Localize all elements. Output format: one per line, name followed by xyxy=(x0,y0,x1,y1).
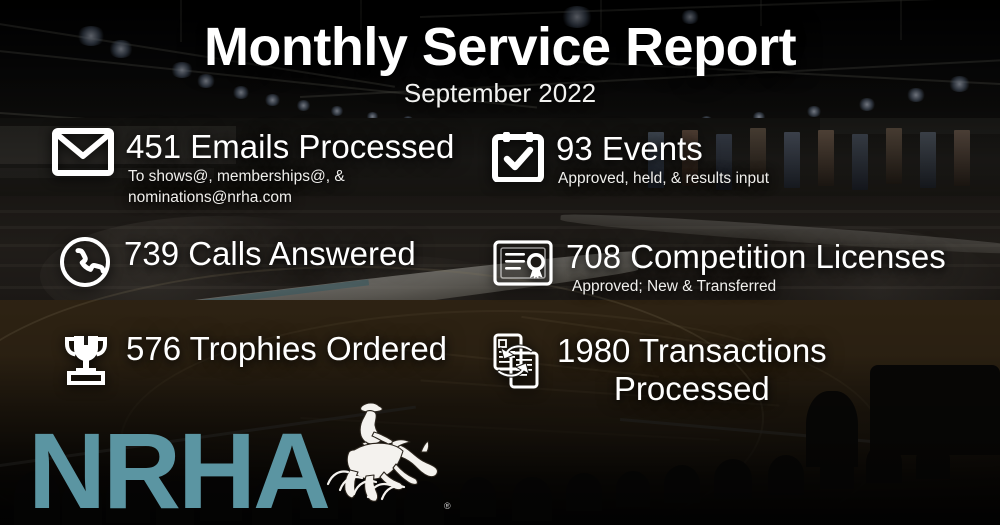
registered-trademark-mark: ® xyxy=(444,501,451,511)
stat-emails-headline: 451 Emails Processed xyxy=(126,128,454,166)
monthly-service-report-infographic: Monthly Service Report September 2022 45… xyxy=(0,0,1000,525)
page-title: Monthly Service Report xyxy=(0,16,1000,78)
stat-competition-licenses: 708 Competition Licenses Approved; New &… xyxy=(492,238,946,297)
stat-events: 93 Events Approved, held, & results inpu… xyxy=(492,130,769,189)
envelope-icon xyxy=(52,128,114,181)
document-exchange-icon xyxy=(487,332,545,397)
stat-calls-answered: 739 Calls Answered xyxy=(58,235,416,294)
phone-circle-icon xyxy=(58,235,112,294)
stat-emails-detail-line-2: nominations@nrha.com xyxy=(128,188,454,208)
report-period-subtitle: September 2022 xyxy=(0,78,1000,109)
stat-transactions-processed: 1980 Transactions Processed xyxy=(487,332,827,408)
stat-licenses-headline: 708 Competition Licenses xyxy=(566,238,946,276)
stat-events-headline: 93 Events xyxy=(556,130,769,168)
stat-trophies-ordered: 576 Trophies Ordered xyxy=(58,330,447,391)
stat-trophies-headline: 576 Trophies Ordered xyxy=(126,330,447,368)
nrha-wordmark: NRHA xyxy=(28,425,328,517)
stat-transactions-headline-line-1: 1980 Transactions xyxy=(557,332,827,370)
stat-calls-headline: 739 Calls Answered xyxy=(124,235,416,273)
stat-emails-processed: 451 Emails Processed To shows@, membersh… xyxy=(52,128,454,208)
certificate-award-icon xyxy=(492,238,554,293)
stat-events-detail: Approved, held, & results input xyxy=(558,169,769,189)
calendar-check-icon xyxy=(492,130,544,187)
nrha-logo: NRHA xyxy=(28,398,451,517)
reining-horse-rider-icon xyxy=(322,398,442,511)
stat-transactions-headline-line-2: Processed xyxy=(557,370,827,408)
stat-emails-detail-line-1: To shows@, memberships@, & xyxy=(128,167,454,187)
stat-licenses-detail: Approved; New & Transferred xyxy=(572,277,946,297)
trophy-icon xyxy=(58,330,114,391)
